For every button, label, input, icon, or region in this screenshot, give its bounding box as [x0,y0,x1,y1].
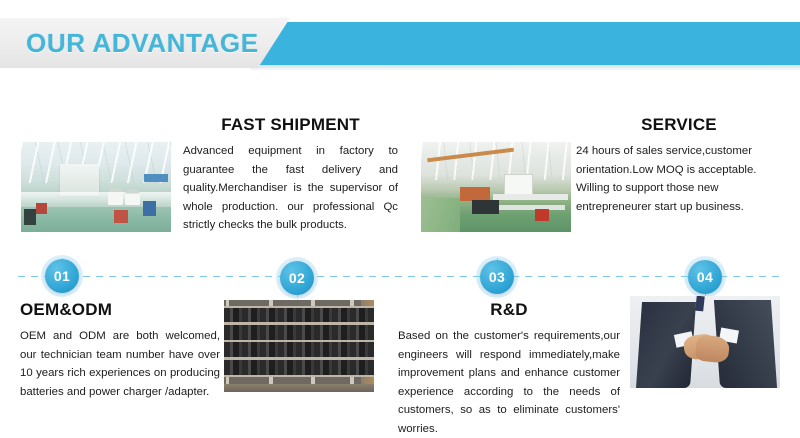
fast-shipment-body: Advanced equipment in factory to guarant… [183,142,398,235]
rnd-body: Based on the customer's requirements,our… [398,327,620,438]
banner-accent-bar [250,22,800,65]
service-block: SERVICE 24 hours of sales service,custom… [576,115,782,216]
fast-shipment-title: FAST SHIPMENT [183,115,398,135]
rnd-title: R&D [398,300,620,320]
fast-shipment-image [21,142,171,232]
oem-odm-image [224,300,374,392]
service-image [421,142,571,232]
header-banner: OUR ADVANTAGE [0,18,800,68]
timeline-node-03[interactable]: 03 [480,260,514,294]
service-body: 24 hours of sales service,customer orien… [576,142,782,216]
timeline-node-02[interactable]: 02 [280,261,314,295]
rnd-block: R&D Based on the customer's requirements… [398,300,620,438]
timeline-dashed-line [18,276,782,277]
oem-odm-title: OEM&ODM [20,300,220,320]
service-title: SERVICE [576,115,782,135]
oem-odm-body: OEM and ODM are both welcomed, our techn… [20,327,220,401]
advantage-infographic: OUR ADVANTAGE FAST SHIPMENT Advanced equ… [0,0,800,422]
page-title: OUR ADVANTAGE [26,18,259,68]
fast-shipment-block: FAST SHIPMENT Advanced equipment in fact… [183,115,398,235]
rnd-image [630,296,780,388]
timeline-node-01[interactable]: 01 [45,259,79,293]
timeline-node-04[interactable]: 04 [688,260,722,294]
oem-odm-block: OEM&ODM OEM and ODM are both welcomed, o… [20,300,220,401]
